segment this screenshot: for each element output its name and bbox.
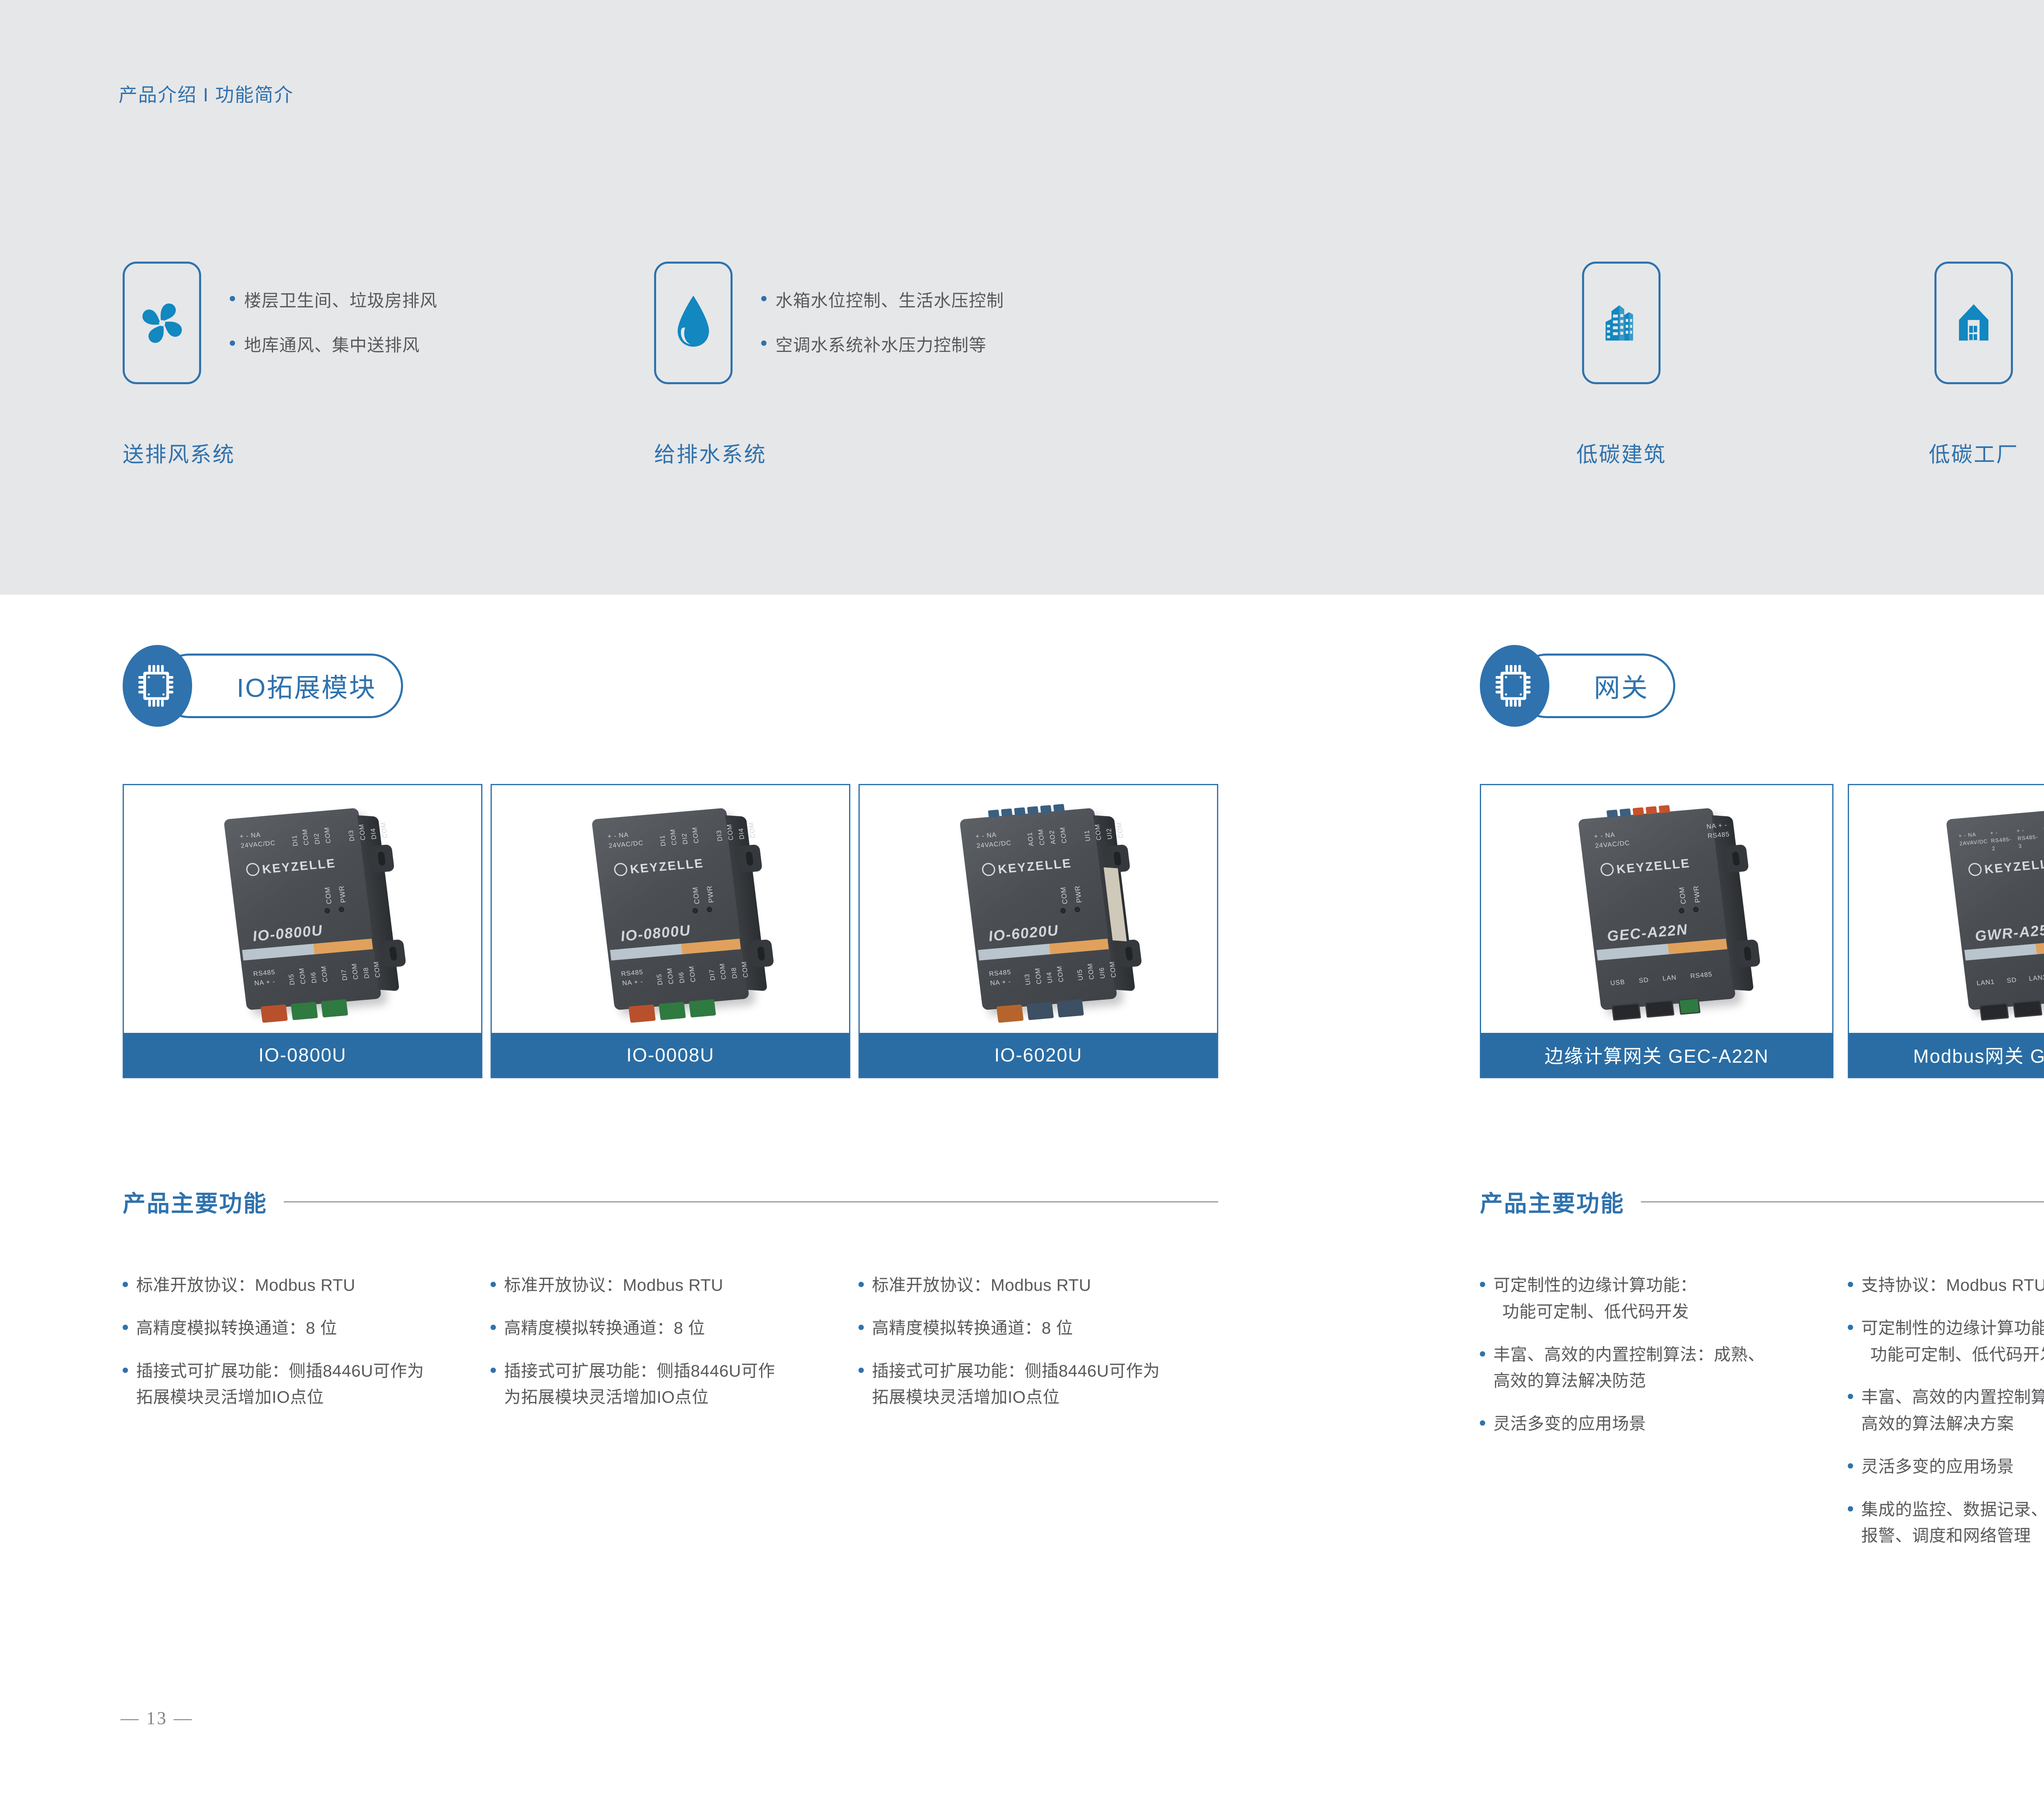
bullet-dot-icon [1848, 1394, 1853, 1399]
device-led-group: COM PWR [692, 907, 712, 914]
device-model-print: IO-0800U [620, 922, 692, 945]
section-header-gateways: 网关 [1480, 645, 1675, 727]
device-model-print: IO-0800U [252, 922, 324, 945]
device-brand: KEYZELLE [1600, 856, 1691, 878]
device-brand: KEYZELLE [245, 856, 336, 878]
device-port-label: SD [1638, 975, 1649, 985]
chip-icon [1495, 663, 1534, 708]
feature-text: 高精度模拟转换通道：8 位 [136, 1315, 337, 1341]
chip-icon-badge [1480, 645, 1549, 727]
device-terminal-group: UI3 COM UI4 COM [1023, 963, 1065, 985]
device-top-connectors [1606, 805, 1670, 818]
bullet-dot-icon [1848, 1282, 1853, 1287]
section-title: 网关 [1594, 667, 1649, 705]
running-head-left: 产品介绍 I 功能简介 [119, 80, 294, 107]
device-port-label: LAN2 [2028, 973, 2044, 984]
device-illustration: + - NA 24VAC/DC DI1 COM DI2 COM DI3 COM [592, 808, 749, 1010]
factory-icon-frame [1934, 262, 2013, 384]
feature-text: 丰富、高效的内置控制算法：成熟、 高效的算法解决方案 [1861, 1384, 2044, 1437]
device-led-group: COM PWR [1679, 907, 1699, 914]
scenario-ventilation-bullets: 楼层卫生间、垃圾房排风 地库通风、集中送排风 [230, 262, 437, 376]
feature-text: 灵活多变的应用场景 [1493, 1411, 1646, 1437]
feature-text: 标准开放协议：Modbus RTU [136, 1272, 355, 1299]
device-connectors [996, 999, 1084, 1023]
feature-text: 标准开放协议：Modbus RTU [872, 1272, 1091, 1299]
product-label: IO-0800U [124, 1033, 481, 1077]
feature-item: 灵活多变的应用场景 [1848, 1453, 2044, 1480]
scenario-bullet-text: 楼层卫生间、垃圾房排风 [244, 287, 437, 312]
feature-text: 标准开放协议：Modbus RTU [504, 1272, 723, 1299]
bullet-dot-icon [1848, 1325, 1853, 1330]
scenario-bullet: 空调水系统补水压力控制等 [761, 331, 1004, 356]
bullet-dot-icon [858, 1325, 864, 1330]
product-card[interactable]: + - NA 24VAC/DC DI1 COM DI2 COM DI3 COM [123, 784, 482, 1078]
device-illustration: + - NA 24VAC/DC NA + - RS485 KEYZELLE CO… [1578, 808, 1735, 1010]
bullet-dot-icon [761, 296, 766, 301]
feature-item: 支持协议：Modbus RTU [1848, 1272, 2044, 1299]
feature-item: 高精度模拟转换通道：8 位 [491, 1315, 850, 1341]
device-port-row [1611, 998, 1700, 1021]
feature-item: 插接式可扩展功能：侧插8446U可作为 拓展模块灵活增加IO点位 [123, 1358, 482, 1411]
device-brand: KEYZELLE [613, 856, 704, 878]
bullet-dot-icon [858, 1282, 864, 1287]
feature-column: 可定制性的边缘计算功能： 功能可定制、低代码开发 丰富、高效的内置控制算法：成熟… [1480, 1272, 1840, 1453]
device-terminal-group: DI1 COM DI2 COM [658, 824, 701, 846]
device-port-row [1979, 998, 2044, 1021]
features-heading-gateways: 产品主要功能 [1480, 1185, 2044, 1218]
device-rs485-label: + -RS485-3 [2016, 825, 2042, 850]
factory-icon [1949, 298, 1998, 347]
bullet-dot-icon [123, 1325, 128, 1330]
device-power-label: + - NA 2AVAV/DC [1958, 830, 1989, 855]
device-port-label: LAN1 [1976, 977, 1995, 988]
feature-item: 标准开放协议：Modbus RTU [858, 1272, 1218, 1299]
device-model-print: GEC-A22N [1606, 921, 1689, 945]
feature-item: 标准开放协议：Modbus RTU [491, 1272, 850, 1299]
scenario-bullet: 水箱水位控制、生活水压控制 [761, 287, 1004, 312]
office-building-icon [1597, 298, 1646, 347]
feature-text: 丰富、高效的内置控制算法：成熟、 高效的算法解决防范 [1493, 1341, 1765, 1395]
feature-item: 可定制性的边缘计算功能： 功能可定制、低代码开发 [1848, 1315, 2044, 1368]
device-terminal-group: UI5 COM UI6 COM [1075, 958, 1118, 981]
bullet-dot-icon [230, 296, 235, 301]
bullet-dot-icon [761, 340, 766, 346]
device-port-label: USB [1609, 977, 1625, 988]
fan-icon-frame [123, 262, 201, 384]
segment-label: 低碳工厂 [1929, 437, 2019, 468]
bullet-dot-icon [491, 1325, 496, 1330]
bullet-dot-icon [1480, 1351, 1485, 1357]
heading-rule [1641, 1201, 2044, 1202]
section-header-io-modules: IO拓展模块 [123, 645, 403, 727]
feature-text: 插接式可扩展功能：侧插8446U可作为 拓展模块灵活增加IO点位 [136, 1358, 424, 1411]
scenario-bullet-text: 地库通风、集中送排风 [244, 331, 420, 356]
device-port-label: LAN [1662, 973, 1677, 983]
feature-item: 灵活多变的应用场景 [1480, 1411, 1840, 1437]
segment-label: 低碳建筑 [1576, 437, 1666, 468]
features-heading-text: 产品主要功能 [123, 1185, 267, 1218]
product-image: + - NA 24VAC/DC DI1 COM DI2 COM DI3 COM [124, 785, 481, 1033]
water-drop-icon [669, 294, 717, 352]
device-connectors [628, 999, 716, 1023]
scenario-label: 给排水系统 [654, 437, 766, 468]
feature-item: 集成的监控、数据记录、能耗计量、 报警、调度和网络管理 [1848, 1496, 2044, 1549]
bullet-dot-icon [1848, 1506, 1853, 1511]
device-model-print: IO-6020U [988, 922, 1060, 945]
device-terminal-group: DI5 COM DI6 COM [655, 963, 697, 985]
feature-column: 标准开放协议：Modbus RTU 高精度模拟转换通道：8 位 插接式可扩展功能… [491, 1272, 850, 1427]
water-drop-icon-frame [654, 262, 733, 384]
features-heading-io: 产品主要功能 [123, 1185, 1218, 1218]
device-power-label: + - NA 24VAC/DC [1593, 829, 1630, 851]
device-rs485-label: + -RS485-4 [2042, 823, 2044, 848]
bullet-dot-icon [858, 1368, 864, 1373]
feature-column: 标准开放协议：Modbus RTU 高精度模拟转换通道：8 位 插接式可扩展功能… [858, 1272, 1218, 1427]
fan-icon [135, 296, 189, 350]
heading-rule [284, 1201, 1218, 1202]
feature-item: 可定制性的边缘计算功能： 功能可定制、低代码开发 [1480, 1272, 1840, 1325]
device-bus-label: RS485 NA + - [253, 967, 277, 988]
feature-item: 插接式可扩展功能：侧插8446U可作为 拓展模块灵活增加IO点位 [858, 1358, 1218, 1411]
bullet-dot-icon [123, 1282, 128, 1287]
scenario-bullet-text: 空调水系统补水压力控制等 [775, 331, 986, 356]
bullet-dot-icon [491, 1368, 496, 1373]
feature-item: 高精度模拟转换通道：8 位 [858, 1315, 1218, 1341]
bullet-dot-icon [230, 340, 235, 346]
feature-text: 插接式可扩展功能：侧插8446U可作为 拓展模块灵活增加IO点位 [872, 1358, 1160, 1411]
product-image: + - NA 24VAC/DC DI1 COM DI2 COM DI3 COM [492, 785, 849, 1033]
feature-item: 高精度模拟转换通道：8 位 [123, 1315, 482, 1341]
scenario-bullet: 地库通风、集中送排风 [230, 331, 437, 356]
device-led-group: COM PWR [324, 907, 344, 914]
bullet-dot-icon [1480, 1282, 1485, 1287]
scenario-ventilation: 楼层卫生间、垃圾房排风 地库通风、集中送排风 送排风系统 [123, 262, 437, 384]
page-number-left: — 13 — [121, 1708, 193, 1729]
device-illustration: + - NA 24VAC/DC DI1 COM DI2 COM DI3 COM [224, 808, 381, 1010]
feature-text: 高精度模拟转换通道：8 位 [504, 1315, 705, 1341]
device-led-group: COM PWR [1060, 907, 1080, 914]
section-title: IO拓展模块 [237, 667, 377, 705]
device-bus-label: RS485 NA + - [988, 967, 1013, 988]
product-label: IO-6020U [860, 1033, 1217, 1077]
feature-text: 集成的监控、数据记录、能耗计量、 报警、调度和网络管理 [1861, 1496, 2044, 1549]
section-title-pill: IO拓展模块 [157, 654, 403, 718]
bullet-dot-icon [491, 1282, 496, 1287]
bullet-dot-icon [123, 1368, 128, 1373]
product-image: + - NA 24VAC/DC NA + - RS485 KEYZELLE CO… [1481, 785, 1832, 1033]
device-terminal-group: DI3 COM DI4 COM [715, 819, 757, 842]
device-model-print: GWR-A25N [1974, 920, 2044, 945]
device-bus-label: RS485 NA + - [621, 967, 645, 988]
device-illustration: + - NA 24VAC/DC AO1 COM AO2 COM UI1 COM [959, 808, 1117, 1010]
scenario-bullet-text: 水箱水位控制、生活水压控制 [775, 287, 1004, 312]
product-image: + - NA 2AVAV/DC + -RS485-2 + -RS485-3 + … [1849, 785, 2044, 1033]
feature-column: 支持协议：Modbus RTU 可定制性的边缘计算功能： 功能可定制、低代码开发… [1848, 1272, 2044, 1565]
device-terminal-group: AO1 COM AO2 COM [1026, 824, 1069, 846]
feature-text: 高精度模拟转换通道：8 位 [872, 1315, 1073, 1341]
device-terminal-group: DI7 COM DI8 COM [339, 958, 382, 981]
scenario-bullet: 楼层卫生间、垃圾房排风 [230, 287, 437, 312]
device-top-connectors [988, 804, 1065, 818]
feature-item: 丰富、高效的内置控制算法：成熟、 高效的算法解决方案 [1848, 1384, 2044, 1437]
device-terminal-group: DI3 COM DI4 COM [347, 819, 389, 842]
device-connectors [260, 999, 348, 1023]
device-terminal-group: DI1 COM DI2 COM [290, 824, 333, 846]
device-brand: KEYZELLE [1968, 856, 2044, 878]
feature-text: 灵活多变的应用场景 [1861, 1453, 2014, 1480]
feature-item: 插接式可扩展功能：侧插8446U可作 为拓展模块灵活增加IO点位 [491, 1358, 850, 1411]
product-card[interactable]: + - NA 2AVAV/DC + -RS485-2 + -RS485-3 + … [1848, 784, 2044, 1078]
segment-low-carbon-building: 低碳建筑 [1582, 262, 1661, 384]
device-brand: KEYZELLE [981, 856, 1072, 878]
device-power-label: + - NA 24VAC/DC [239, 829, 276, 851]
scenario-water-bullets: 水箱水位控制、生活水压控制 空调水系统补水压力控制等 [761, 262, 1004, 376]
device-terminal-group: UI1 COM UI2 COM [1083, 819, 1125, 842]
device-port-label: RS485 [1690, 970, 1713, 981]
product-image: + - NA 24VAC/DC AO1 COM AO2 COM UI1 COM [860, 785, 1217, 1033]
feature-item: 丰富、高效的内置控制算法：成熟、 高效的算法解决防范 [1480, 1341, 1840, 1395]
device-terminal-group: DI7 COM DI8 COM [707, 958, 750, 981]
product-card[interactable]: + - NA 24VAC/DC NA + - RS485 KEYZELLE CO… [1480, 784, 1833, 1078]
product-card[interactable]: + - NA 24VAC/DC AO1 COM AO2 COM UI1 COM [858, 784, 1218, 1078]
feature-text: 可定制性的边缘计算功能： 功能可定制、低代码开发 [1493, 1272, 1697, 1325]
device-port-label: SD [2006, 975, 2017, 985]
feature-column: 标准开放协议：Modbus RTU 高精度模拟转换通道：8 位 插接式可扩展功能… [123, 1272, 482, 1427]
office-building-icon-frame [1582, 262, 1661, 384]
bullet-dot-icon [1480, 1420, 1485, 1426]
product-label: Modbus网关 GWR-A25N [1849, 1033, 2044, 1077]
product-card[interactable]: + - NA 24VAC/DC DI1 COM DI2 COM DI3 COM [491, 784, 850, 1078]
bullet-dot-icon [1848, 1463, 1853, 1469]
segment-low-carbon-factory: 低碳工厂 [1934, 262, 2013, 384]
device-power-label: + - NA 24VAC/DC [975, 829, 1012, 851]
product-label: IO-0008U [492, 1033, 849, 1077]
device-power-label: + - NA 24VAC/DC [607, 829, 644, 851]
feature-text: 可定制性的边缘计算功能： 功能可定制、低代码开发 [1861, 1315, 2044, 1368]
feature-item: 标准开放协议：Modbus RTU [123, 1272, 482, 1299]
device-terminal-group: DI5 COM DI6 COM [287, 963, 329, 985]
chip-icon-badge [123, 645, 192, 727]
chip-icon [138, 663, 177, 708]
device-illustration: + - NA 2AVAV/DC + -RS485-2 + -RS485-3 + … [1945, 808, 2044, 1010]
scenario-label: 送排风系统 [123, 437, 235, 468]
feature-text: 插接式可扩展功能：侧插8446U可作 为拓展模块灵活增加IO点位 [504, 1358, 775, 1411]
features-heading-text: 产品主要功能 [1480, 1185, 1625, 1218]
brochure-spread: 产品介绍 I 功能简介 产品介绍 I 功能简介 楼层卫生间、垃圾房排风 [0, 0, 2044, 1798]
scenario-water-supply: 水箱水位控制、生活水压控制 空调水系统补水压力控制等 给排水系统 [654, 262, 1004, 384]
device-rs485-label: NA + - RS485 [1706, 820, 1730, 841]
device-rs485-label: + -RS485-2 [1990, 828, 2016, 853]
product-label: 边缘计算网关 GEC-A22N [1481, 1033, 1832, 1077]
feature-text: 支持协议：Modbus RTU [1861, 1272, 2044, 1299]
